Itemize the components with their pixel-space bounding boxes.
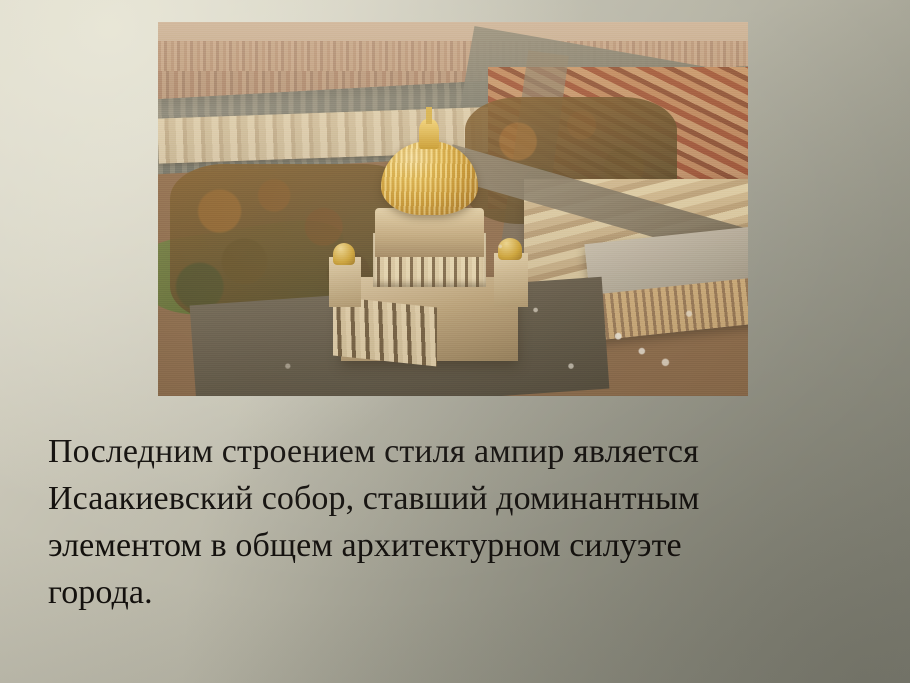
photo-scene: [158, 22, 748, 396]
caption-line-1: Последним строением стиля ампир является: [48, 428, 876, 475]
caption-line-2: Исаакиевский собор, ставший доминантным: [48, 475, 876, 522]
presentation-slide: Последним строением стиля ампир является…: [0, 0, 910, 683]
slide-caption: Последним строением стиля ампир является…: [48, 428, 876, 616]
caption-line-4: города.: [48, 569, 876, 616]
caption-line-3: элементом в общем архитектурном силуэте: [48, 522, 876, 569]
vehicles-and-highlights: [158, 22, 748, 396]
slide-photo-saint-isaacs-cathedral[interactable]: [158, 22, 748, 396]
